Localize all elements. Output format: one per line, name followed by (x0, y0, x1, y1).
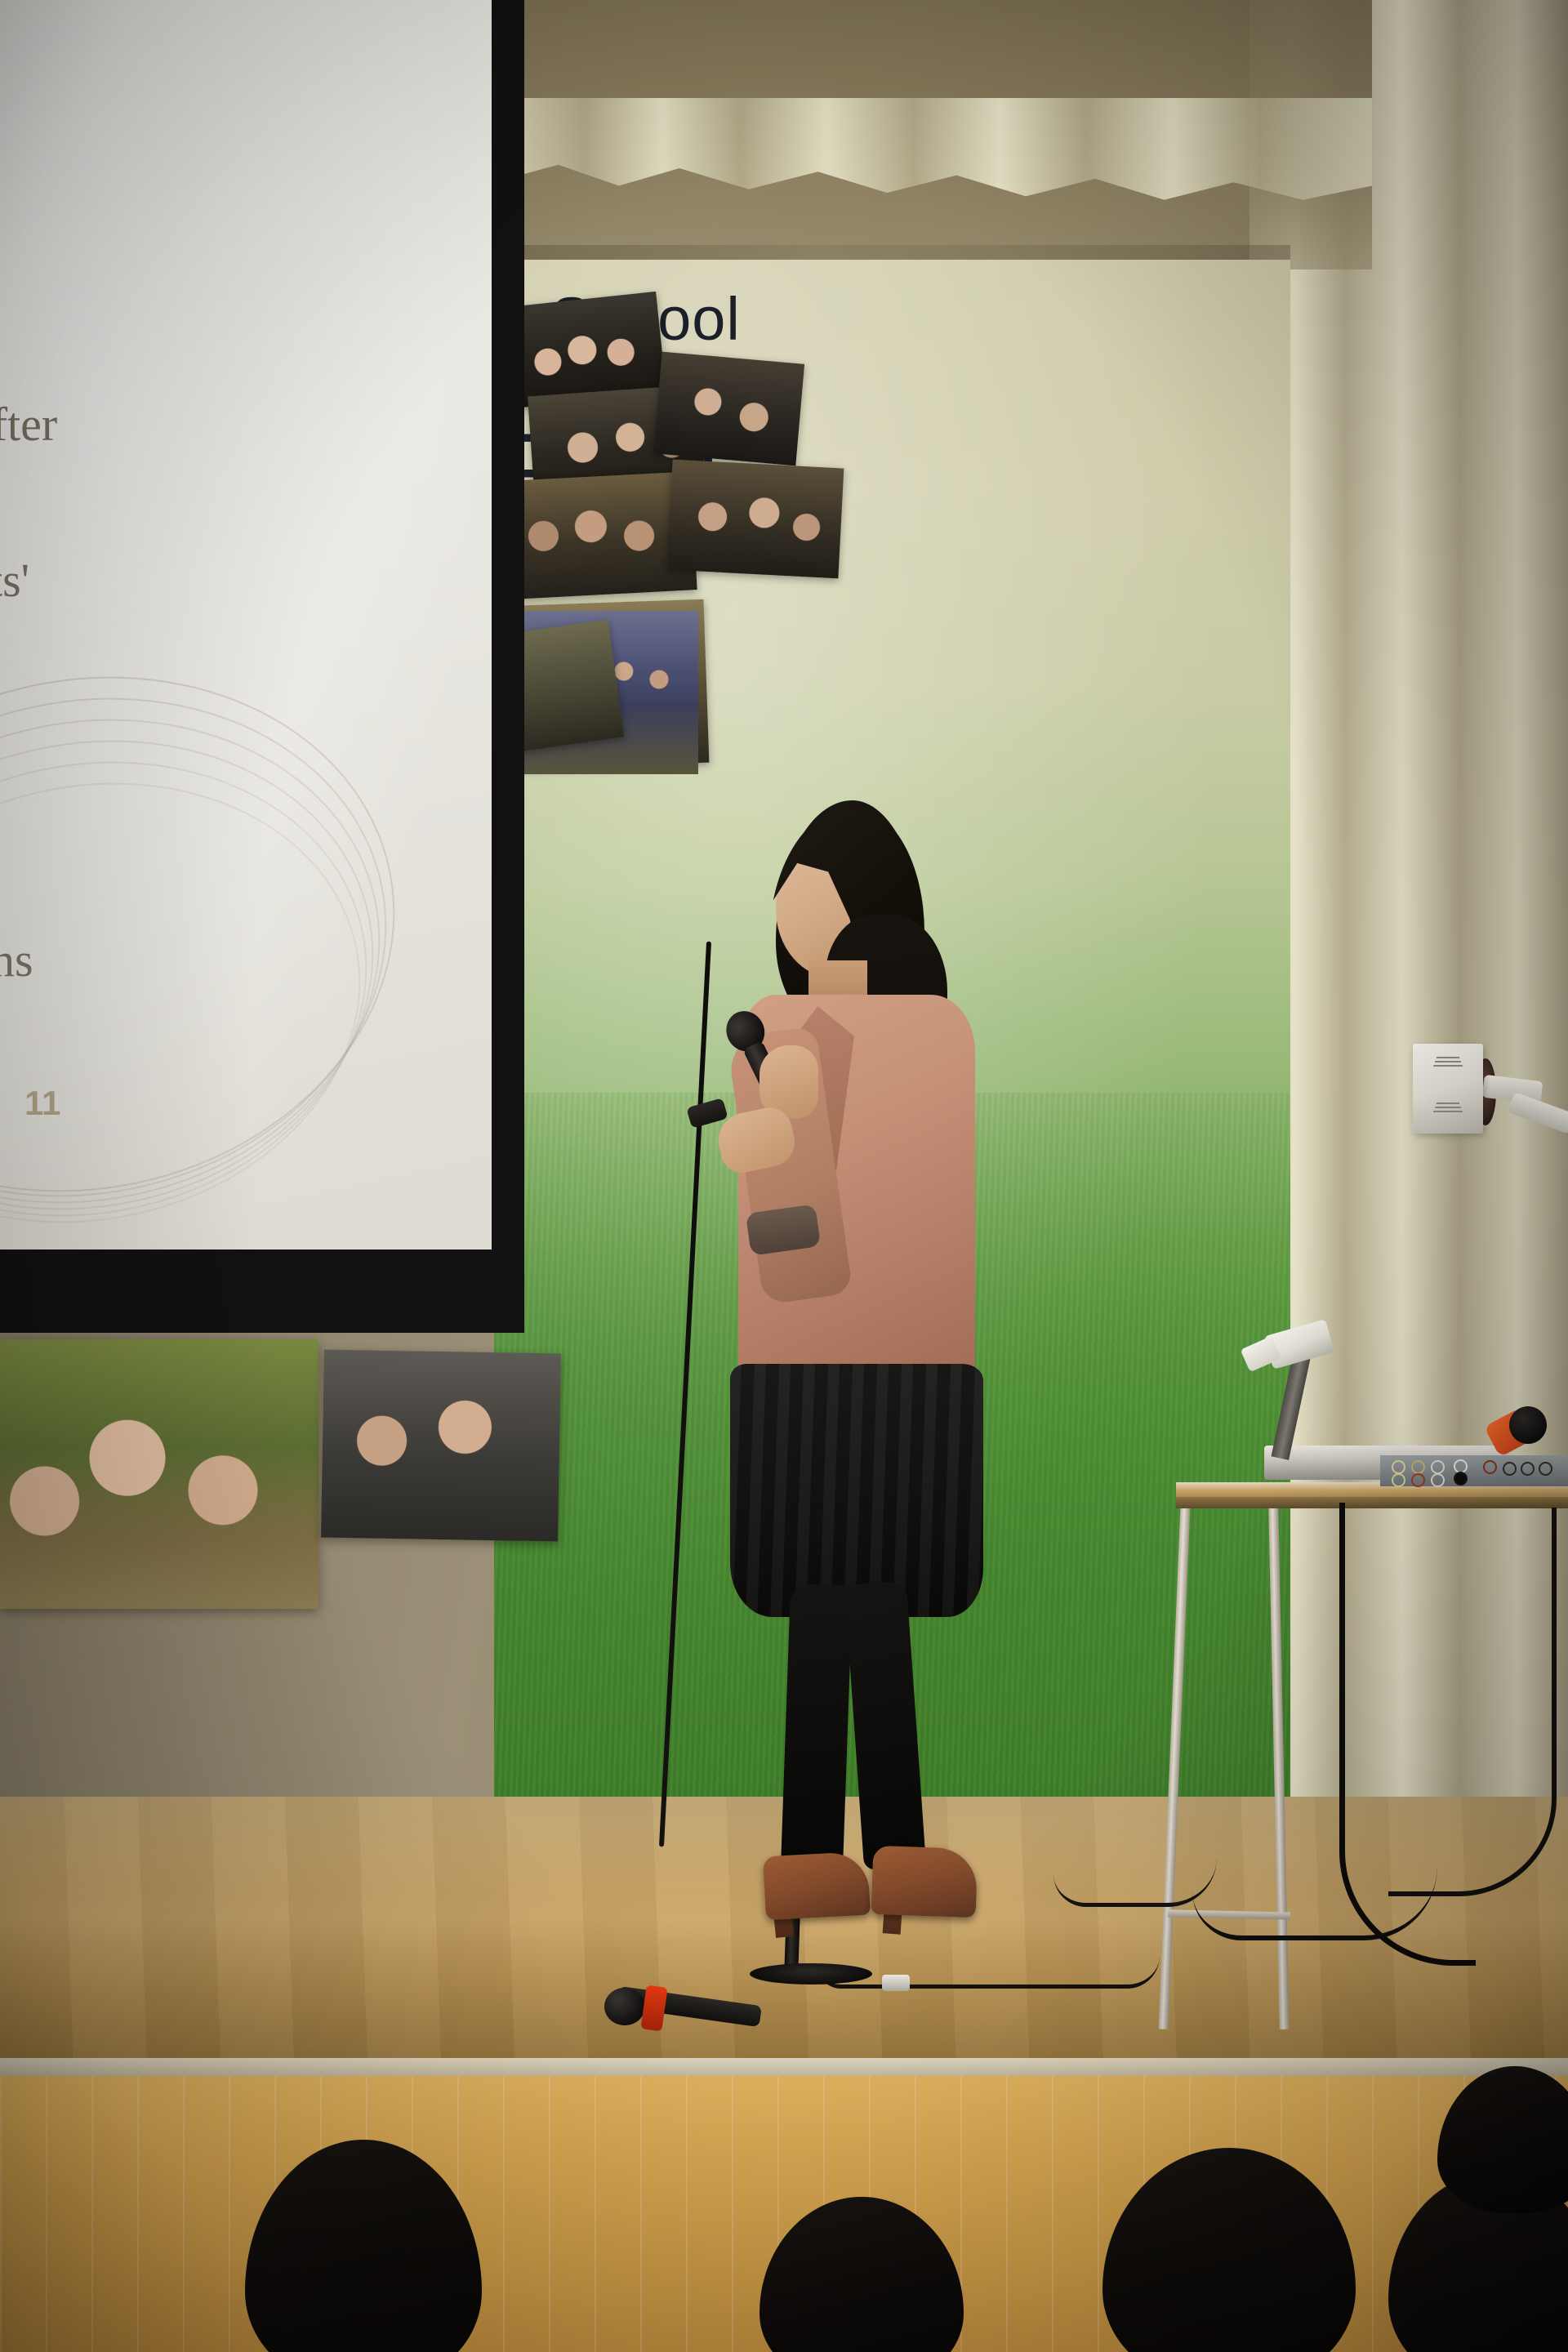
presenter-speaker (678, 800, 1021, 1968)
presenter-shoe (763, 1851, 871, 1921)
projection-screen[interactable]: after nts' ons 11 (0, 0, 492, 1249)
slide-page-number: 11 (24, 1084, 60, 1123)
presenter-shoe (871, 1846, 978, 1918)
speaker-vent-icon (1432, 1102, 1463, 1114)
rca-port-icon (1411, 1460, 1425, 1474)
av-cable (1053, 1829, 1217, 1907)
photo-scene: y School 中學 after nts' ons 11 (0, 0, 1568, 2352)
slide-text-line-3: ons (0, 933, 33, 987)
presenter-skirt (730, 1364, 983, 1617)
slide-text-line-1: after (0, 397, 57, 452)
rca-port-icon (1392, 1460, 1405, 1474)
rca-port-icon (1431, 1473, 1445, 1487)
jack-port-icon (1503, 1462, 1517, 1476)
jack-port-icon (1521, 1462, 1535, 1476)
rca-port-icon (1431, 1460, 1445, 1474)
banner-photo-lower-left (0, 1339, 318, 1609)
presenter-leg (844, 1581, 926, 1870)
banner-photo-lower-mid (321, 1349, 561, 1541)
banner-photo-students-classroom (653, 352, 804, 466)
speaker-vent-icon (1432, 1057, 1463, 1068)
rca-port-icon (1411, 1473, 1425, 1487)
banner-photo-students-cheering (667, 460, 844, 579)
wall-mounted-speaker (1413, 1044, 1483, 1134)
floor-microphone-head (604, 1988, 645, 2025)
rca-port-icon (1392, 1473, 1405, 1487)
cable-connector (882, 1975, 910, 1991)
stage-edge-trim (0, 2058, 1568, 2076)
jack-port-icon (1539, 1462, 1552, 1476)
slide-text-line-2: nts' (0, 553, 29, 608)
bnc-port-icon (1454, 1472, 1468, 1486)
document-camera-port-panel (1380, 1455, 1568, 1486)
projection-screen-frame: after nts' ons 11 (0, 0, 524, 1333)
presenter-leg (781, 1584, 853, 1871)
desk-microphone-head (1509, 1406, 1547, 1444)
rca-port-icon (1483, 1460, 1497, 1474)
av-cable (1192, 1821, 1437, 1940)
presentation-clicker[interactable] (686, 1098, 728, 1129)
